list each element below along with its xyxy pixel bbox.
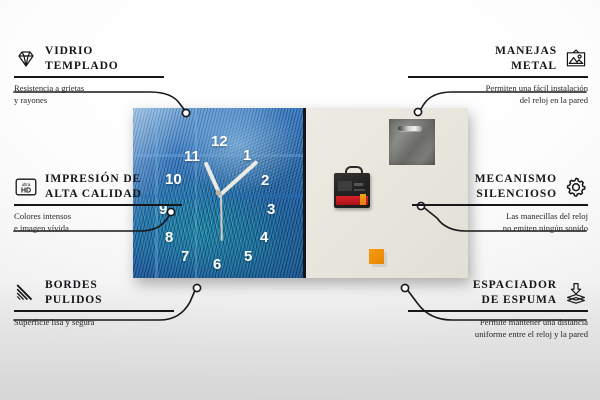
callout-title-line2: SILENCIOSO — [476, 187, 557, 202]
leader-dot-bordes — [193, 284, 200, 291]
clock-numeral-7: 7 — [181, 249, 189, 264]
callout-header: MANEJAS METAL — [408, 44, 588, 73]
clock-mechanism — [334, 170, 370, 208]
diamond-icon — [14, 47, 38, 71]
callout-desc-line2: e imagen vívida — [14, 222, 182, 234]
callout-title-line1: MECANISMO — [475, 172, 557, 187]
callout-manejas-metal: MANEJAS METAL Permiten una fácil instala… — [408, 44, 588, 106]
callout-header: ultra HD IMPRESIÓN DE ALTA CALIDAD — [14, 172, 182, 201]
callout-rule — [14, 204, 182, 206]
callout-rule — [14, 76, 164, 78]
callout-title-line1: IMPRESIÓN DE — [45, 172, 141, 187]
clock-numeral-1: 1 — [243, 148, 251, 163]
callout-titles: MANEJAS METAL — [495, 44, 557, 73]
foam-spacer — [369, 249, 384, 264]
picture-hanger-icon — [564, 47, 588, 71]
callout-header: VIDRIO TEMPLADO — [14, 44, 164, 73]
callout-title-line1: BORDES — [45, 278, 98, 293]
mechanism-detail — [354, 183, 363, 186]
infographic-canvas: 12 1 2 3 4 5 6 7 8 9 10 11 — [0, 0, 600, 400]
metal-hanger-plate — [389, 119, 435, 165]
clock-numeral-6: 6 — [213, 257, 221, 272]
hanger-slot — [398, 126, 422, 131]
clock-numeral-3: 3 — [267, 202, 275, 217]
callout-rule — [14, 310, 174, 312]
callout-title-line2: DE ESPUMA — [481, 293, 557, 308]
callout-title-line1: VIDRIO — [45, 44, 93, 59]
callout-title-line1: ESPACIADOR — [473, 278, 557, 293]
callout-titles: IMPRESIÓN DE ALTA CALIDAD — [45, 172, 142, 201]
callout-desc-line2: no emiten ningún sonido — [412, 222, 588, 234]
callout-titles: BORDES PULIDOS — [45, 278, 102, 307]
callout-titles: ESPACIADOR DE ESPUMA — [473, 278, 557, 307]
callout-desc-line1: Las manecillas del reloj — [412, 210, 588, 222]
mechanism-body — [334, 173, 370, 208]
callout-title-line2: TEMPLADO — [45, 59, 119, 74]
clock-numeral-5: 5 — [244, 249, 252, 264]
clock-numeral-4: 4 — [260, 230, 268, 245]
svg-text:HD: HD — [21, 187, 31, 194]
callout-mecanismo-silencioso: MECANISMO SILENCIOSO Las manecillas del … — [412, 172, 588, 234]
callout-bordes-pulidos: BORDES PULIDOS Superficie lisa y segura — [14, 278, 174, 328]
callout-header: MECANISMO SILENCIOSO — [412, 172, 588, 201]
mechanism-detail — [338, 181, 352, 191]
polished-edges-icon — [14, 281, 38, 305]
callout-vidrio-templado: VIDRIO TEMPLADO Resistencia a grietas y … — [14, 44, 164, 106]
callout-title-line2: ALTA CALIDAD — [45, 187, 142, 202]
callout-desc-line2: uniforme entre el reloj y la pared — [408, 328, 588, 340]
callout-desc-line1: Superficie lisa y segura — [14, 316, 174, 328]
callout-impresion-alta-calidad: ultra HD IMPRESIÓN DE ALTA CALIDAD Color… — [14, 172, 182, 234]
gear-icon — [564, 175, 588, 199]
callout-title-line2: METAL — [511, 59, 557, 74]
clock-numeral-12: 12 — [211, 134, 228, 149]
callout-desc-line1: Resistencia a grietas — [14, 82, 164, 94]
svg-text:ultra: ultra — [22, 182, 31, 187]
callout-header: ESPACIADOR DE ESPUMA — [408, 278, 588, 307]
clock-numeral-2: 2 — [261, 173, 269, 188]
callout-title-line1: MANEJAS — [495, 44, 557, 59]
ultra-hd-icon: ultra HD — [14, 175, 38, 199]
callout-title-line2: PULIDOS — [45, 293, 102, 308]
callout-header: BORDES PULIDOS — [14, 278, 174, 307]
callout-desc-line2: y rayones — [14, 94, 164, 106]
mechanism-detail — [354, 189, 365, 191]
callout-titles: VIDRIO TEMPLADO — [45, 44, 119, 73]
clock-numeral-11: 11 — [184, 149, 200, 164]
callout-rule — [412, 204, 588, 206]
callout-desc-line1: Permite mantener una distancia — [408, 316, 588, 328]
mechanism-label — [336, 196, 368, 205]
callout-rule — [408, 310, 588, 312]
callout-rule — [408, 76, 588, 78]
callout-desc-line2: del reloj en la pared — [408, 94, 588, 106]
callout-desc-line1: Permiten una fácil instalación — [408, 82, 588, 94]
callout-espaciador-espuma: ESPACIADOR DE ESPUMA Permite mantener un… — [408, 278, 588, 340]
foam-spacer-icon — [564, 281, 588, 305]
callout-desc-line1: Colores intensos — [14, 210, 182, 222]
clock-center-cap — [216, 191, 221, 196]
callout-titles: MECANISMO SILENCIOSO — [475, 172, 557, 201]
